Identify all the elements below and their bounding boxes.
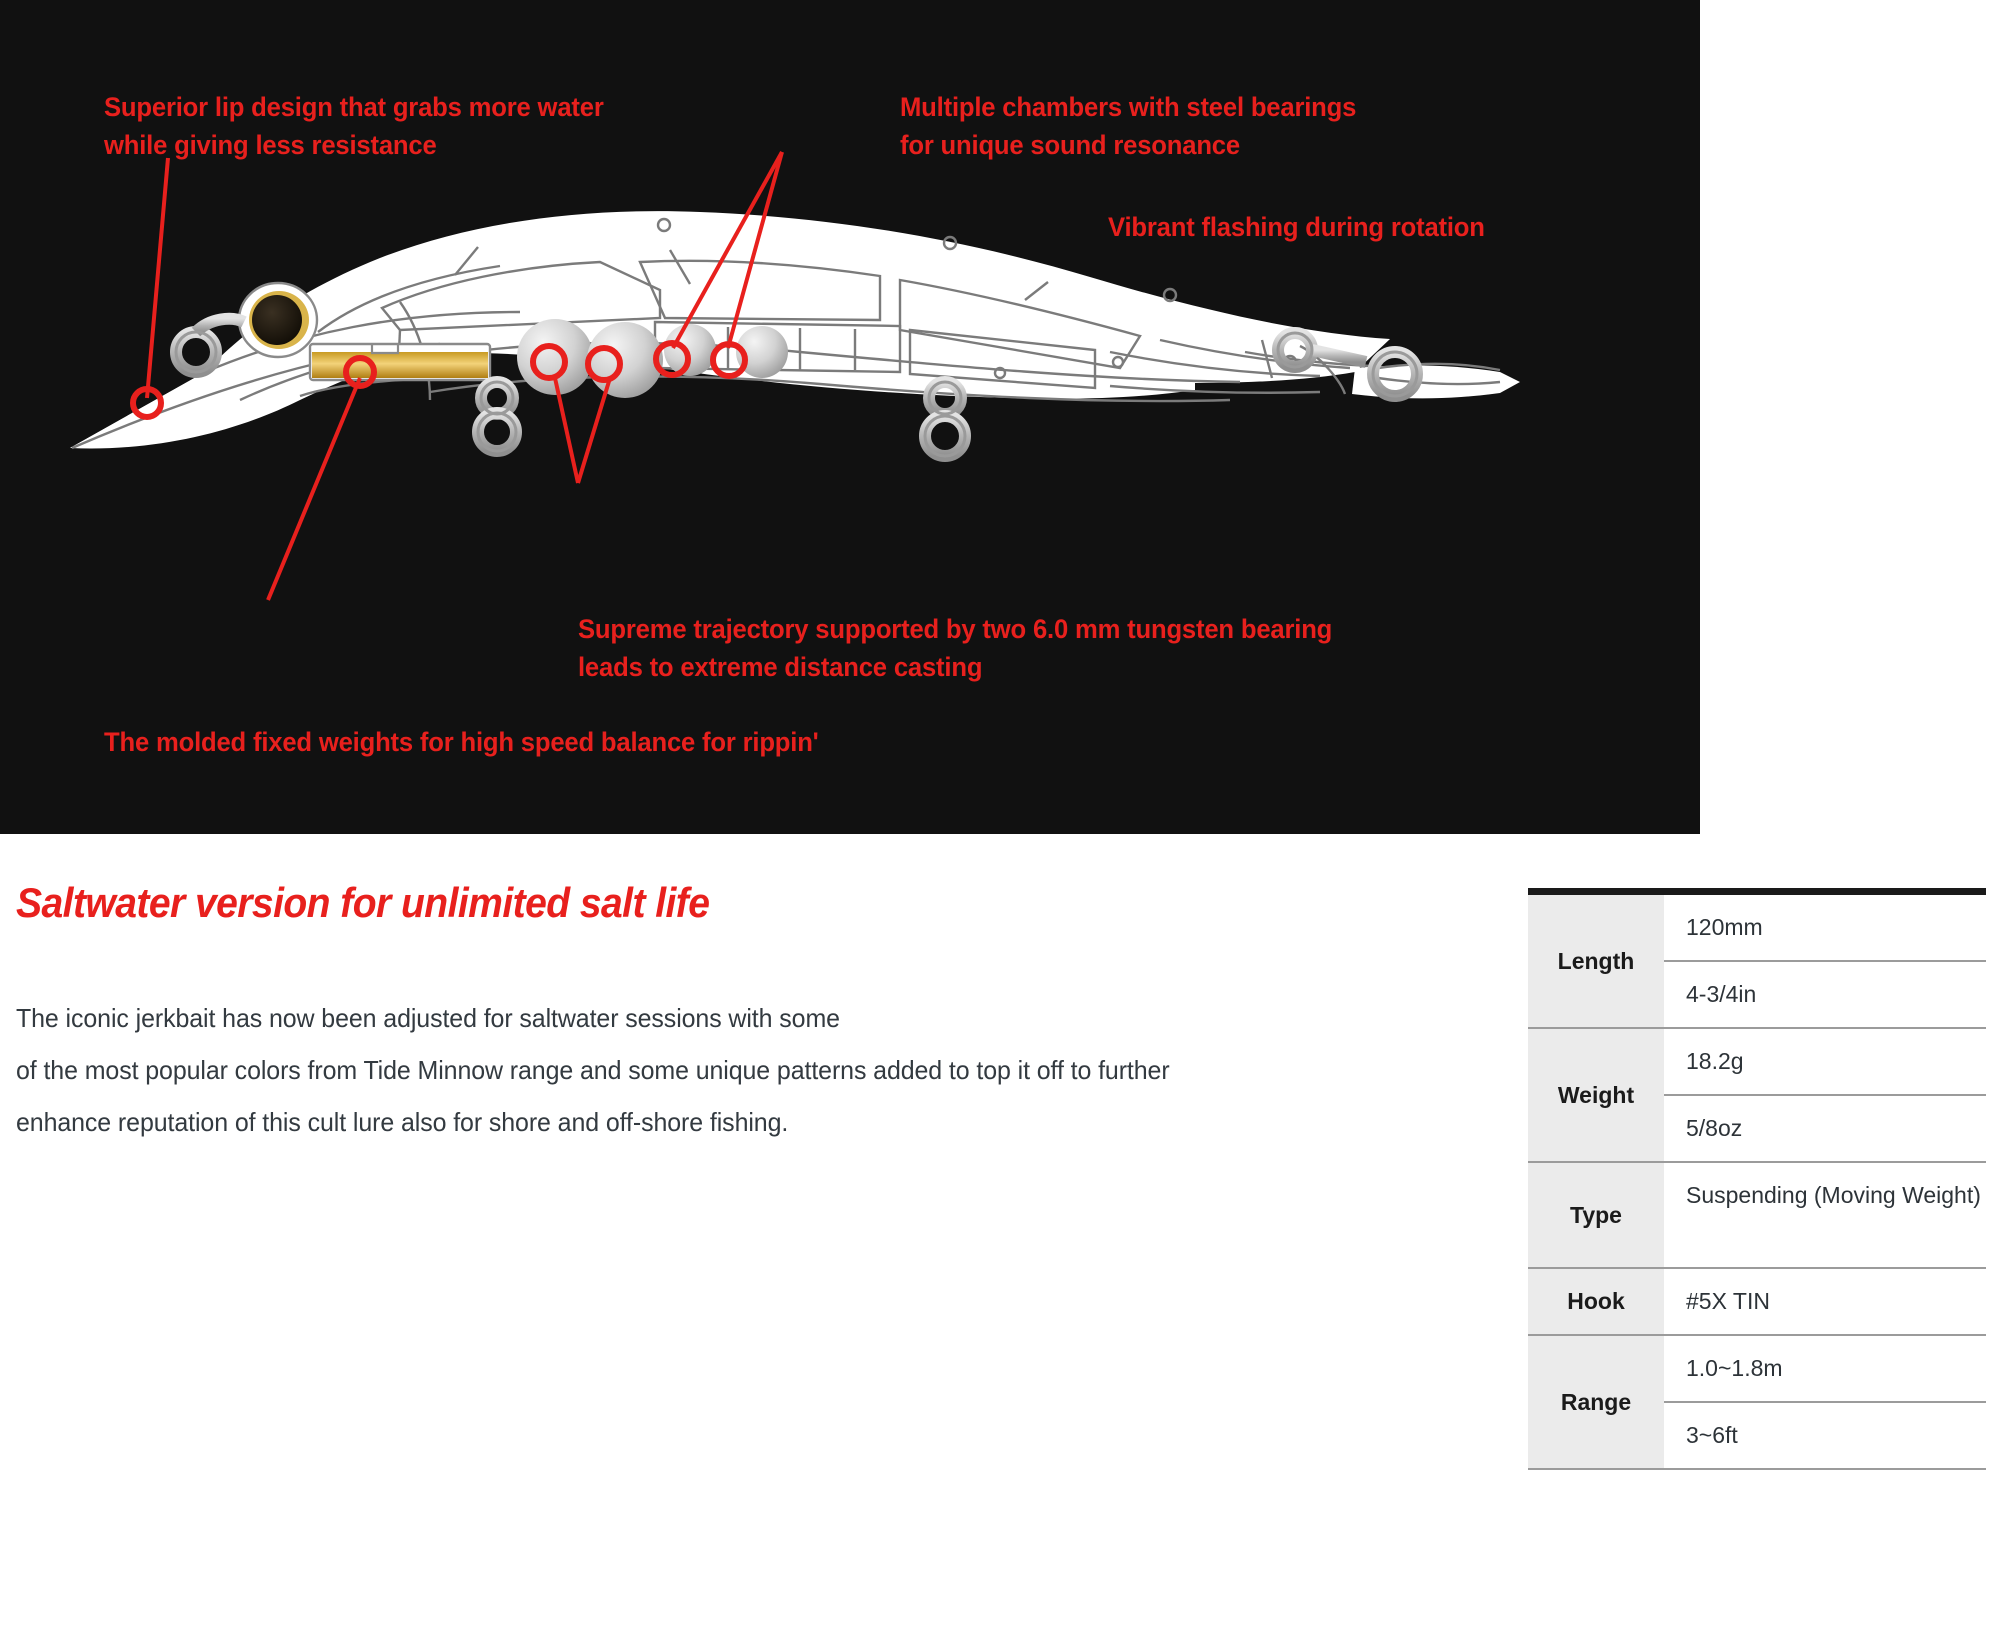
callout-flashing: Vibrant flashing during rotation	[1108, 208, 1485, 246]
callout-trajectory: Supreme trajectory supported by two 6.0 …	[578, 610, 1332, 687]
spec-values: 1.0~1.8m 3~6ft	[1664, 1335, 1986, 1469]
section-headline: Saltwater version for unlimited salt lif…	[16, 879, 709, 927]
paragraph-line: of the most popular colors from Tide Min…	[16, 1044, 1456, 1096]
spec-value: 1.0~1.8m	[1664, 1336, 1986, 1401]
product-description-section: Saltwater version for unlimited salt lif…	[0, 834, 2000, 1634]
spec-label: Hook	[1528, 1268, 1664, 1335]
spec-label: Range	[1528, 1335, 1664, 1469]
spec-value: 120mm	[1664, 895, 1986, 960]
spec-label: Weight	[1528, 1028, 1664, 1162]
spec-label: Length	[1528, 892, 1664, 1029]
spec-label: Type	[1528, 1162, 1664, 1268]
table-row: Type Suspending (Moving Weight)	[1528, 1162, 1986, 1268]
paragraph-line: The iconic jerkbait has now been adjuste…	[16, 992, 1456, 1044]
table-row: Range 1.0~1.8m 3~6ft	[1528, 1335, 1986, 1469]
spec-values: Suspending (Moving Weight)	[1664, 1162, 1986, 1268]
table-row: Length 120mm 4-3/4in	[1528, 892, 1986, 1029]
molded-fixed-weight	[310, 344, 490, 380]
callout-chambers: Multiple chambers with steel bearings fo…	[900, 88, 1356, 165]
description-paragraph: The iconic jerkbait has now been adjuste…	[16, 992, 1456, 1148]
spec-values: 18.2g 5/8oz	[1664, 1028, 1986, 1162]
spec-value: 4-3/4in	[1664, 960, 1986, 1027]
product-diagram-panel: Superior lip design that grabs more wate…	[0, 0, 1700, 834]
callout-fixed-weights: The molded fixed weights for high speed …	[104, 723, 819, 761]
spec-value: #5X TIN	[1664, 1269, 1986, 1334]
callout-lip-design: Superior lip design that grabs more wate…	[104, 88, 604, 165]
table-row: Weight 18.2g 5/8oz	[1528, 1028, 1986, 1162]
table-row: Hook #5X TIN	[1528, 1268, 1986, 1335]
specification-table: Length 120mm 4-3/4in Weight 18.2g 5/8oz …	[1528, 888, 1986, 1470]
spec-value: 3~6ft	[1664, 1401, 1986, 1468]
spec-values: 120mm 4-3/4in	[1664, 892, 1986, 1029]
spec-value: Suspending (Moving Weight)	[1664, 1163, 1986, 1267]
spec-values: #5X TIN	[1664, 1268, 1986, 1335]
lure-eye	[239, 283, 317, 357]
spec-value: 5/8oz	[1664, 1094, 1986, 1161]
paragraph-line: enhance reputation of this cult lure als…	[16, 1096, 1456, 1148]
spec-value: 18.2g	[1664, 1029, 1986, 1094]
